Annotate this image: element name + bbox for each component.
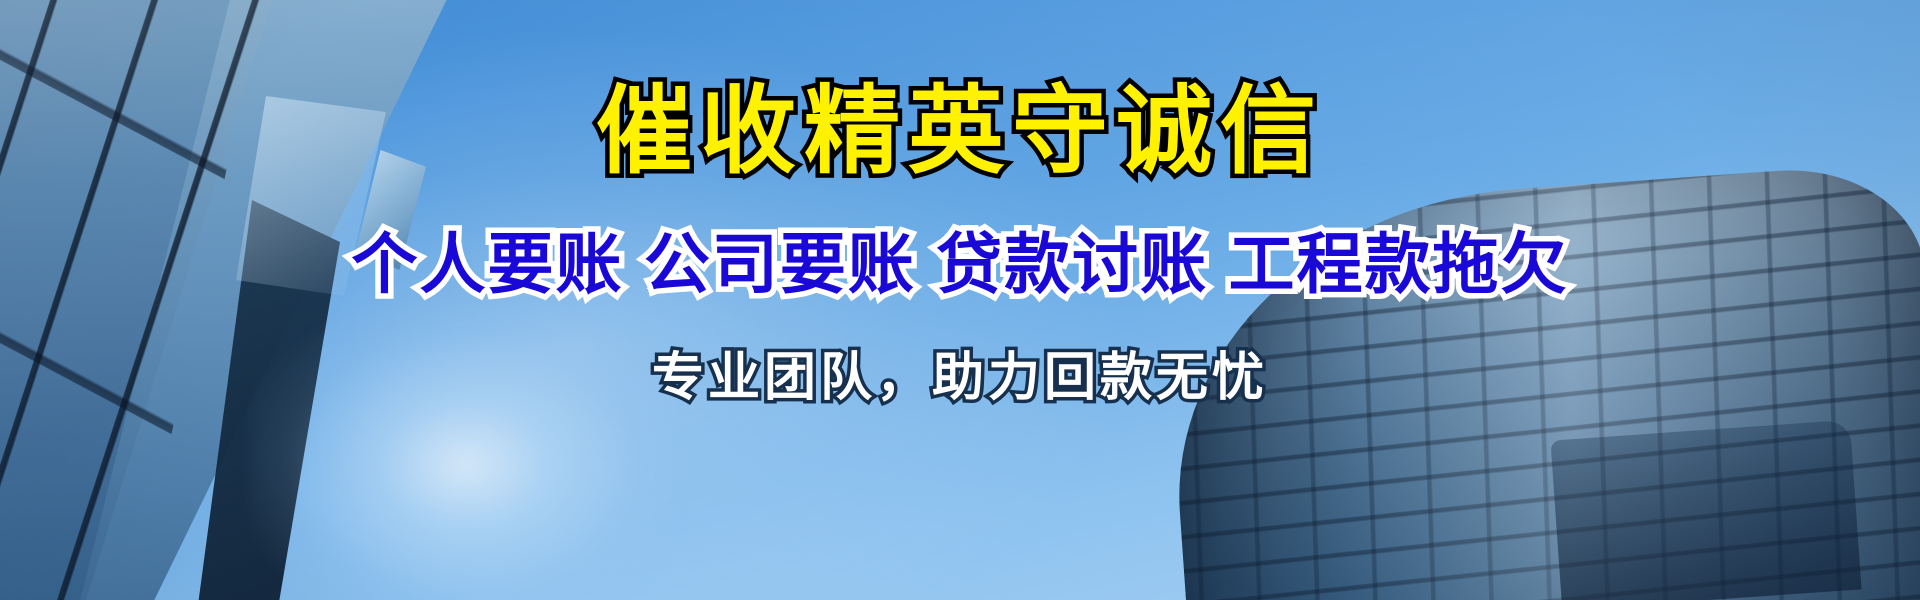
tower-base-block	[1550, 420, 1861, 600]
promo-banner: 催收精英守诚信 个人要账 公司要账 贷款讨账 工程款拖欠 专业团队，助力回款无忧	[0, 0, 1920, 600]
